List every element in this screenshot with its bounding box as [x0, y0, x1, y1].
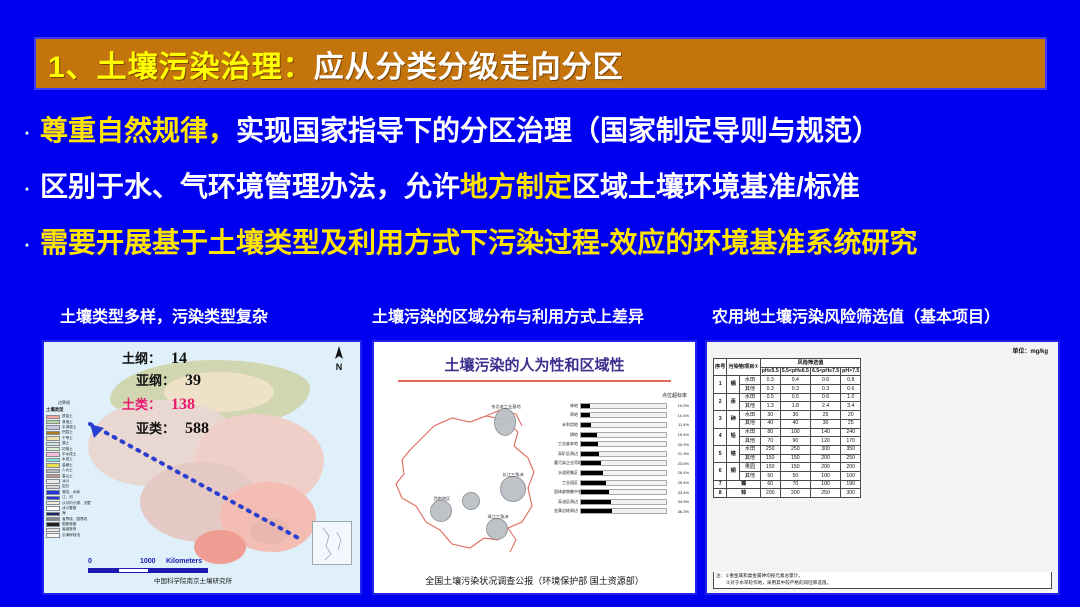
legend-swatch: [46, 469, 60, 473]
legend-title: 土壤类型: [46, 407, 106, 413]
legend-swatch: [46, 528, 60, 532]
table-notes: 注：①重金属和类金属砷均按元素总量计。 ②对于水旱轮作地，采用其中较严格的风险筛…: [713, 572, 1052, 589]
north-arrow-glyph: [334, 346, 344, 360]
legend-label: 沿海岸线浅: [62, 533, 80, 538]
th-group: 风险筛选值: [760, 359, 861, 368]
table-head: 序号 污染物项目① 风险筛选值 pH≤5.5 5.5<pH≤6.5 6.5<pH…: [714, 359, 861, 376]
bar-row: 林地10.0%: [554, 401, 689, 411]
table-row: 6铜果园150150200200: [714, 463, 861, 472]
cell-value-ph-1: 60: [760, 480, 780, 489]
bar-category-label: 未利用地: [554, 422, 580, 428]
th-ph-1: pH≤5.5: [760, 367, 780, 376]
cell-value-ph-3: 120: [810, 437, 840, 446]
bullet-item-3: · 需要开展基于土壤类型及利用方式下污染过程-效应的环境基准系统研究: [14, 215, 1074, 271]
table-row: 8锌200200250300: [714, 489, 861, 498]
cell-value-ph-1: 70: [760, 437, 780, 446]
cell-value-ph-4: 25: [841, 419, 861, 428]
bar-track: [580, 508, 667, 514]
bar-category-label: 固体废物集中处理处置场地: [554, 489, 580, 495]
legend-row-list: 铁铝土淋溶土半淋溶土钙层土干旱土漠土初育土半水成土水成土盐碱土人为土高山土冰川岩…: [46, 414, 106, 538]
cell-pollutant: 锌: [727, 489, 760, 498]
inset-islands: [313, 522, 351, 564]
cell-landuse: 其他: [740, 419, 761, 428]
map-inset-box: [312, 521, 352, 565]
scale-seg: [148, 569, 178, 572]
th-ph-3: 6.5<pH≤7.5: [810, 367, 840, 376]
bullet-marker-icon: ·: [14, 103, 40, 159]
bar-track: [580, 451, 667, 457]
th-pollutant: 污染物项目①: [727, 359, 760, 376]
bullet-item-2: · 区别于水、气环境管理办法，允许地方制定区域土壤环境基准/标准: [14, 159, 1074, 215]
cell-value-ph-3: 200: [810, 454, 840, 463]
cell-value-ph-1: 0.3: [760, 376, 780, 385]
scale-max: 1000: [140, 558, 156, 565]
bar-row: 固体废物集中处理处置场地33.4%: [554, 487, 689, 497]
cell-landuse: 水田: [740, 445, 761, 454]
table-row: 5铬水田250250300350: [714, 445, 861, 454]
bar-category-label: 草地: [554, 412, 580, 418]
cell-value-ph-2: 40: [780, 419, 810, 428]
bar-fill: [581, 461, 601, 465]
bullet-text-1: 尊重自然规律，实现国家指导下的分区治理（国家制定导则与规范）: [40, 103, 880, 159]
bar-value-label: 34.9%: [667, 499, 689, 504]
bar-track: [580, 480, 667, 486]
legend-swatch: [46, 415, 60, 419]
legend-subtitle: 边界线: [58, 400, 106, 406]
region-blob: [500, 476, 526, 502]
bar-track: [580, 460, 667, 466]
legend-row: 沿海岸线浅: [46, 533, 106, 538]
note-text-1: ①重金属和类金属砷均按元素总量计。: [725, 573, 803, 578]
legend-swatch: [46, 431, 60, 435]
bar-chart-header: 点位超标率: [554, 392, 689, 399]
cell-value-ph-3: 140: [810, 428, 840, 437]
bar-category-label: 采油区周边: [554, 499, 580, 505]
table-header-row-1: 序号 污染物项目① 风险筛选值: [714, 359, 861, 368]
soil-group-label: 土类：: [122, 397, 161, 412]
exceedance-bar-chart: 点位超标率 林地10.0%草地10.4%未利用地11.4%耕地19.4%工业废弃…: [554, 392, 689, 516]
cell-value-ph-1: 250: [760, 445, 780, 454]
cell-landuse: 其他: [740, 402, 761, 411]
cell-value-ph-3: 200: [810, 463, 840, 472]
th-ph-2: 5.5<pH≤6.5: [780, 367, 810, 376]
bar-fill: [581, 500, 611, 504]
slide-title-bar: 1、土壤污染治理：应从分类分级走向分区: [34, 37, 1047, 90]
bullet-1-seg-2: 实现国家指导下的分区治理（国家制定导则与规范）: [236, 115, 880, 146]
cell-pollutant: 铜: [727, 463, 740, 480]
bar-row: 采油区周边34.9%: [554, 497, 689, 507]
cell-landuse: 果园: [740, 463, 761, 472]
bar-value-label: 23.6%: [667, 461, 689, 466]
bar-track: [580, 441, 667, 447]
cell-value-ph-3: 250: [810, 489, 840, 498]
map-credit: 中国科学院南京土壤研究所: [154, 575, 232, 585]
legend-swatch: [46, 425, 60, 429]
region-blob: [486, 518, 508, 540]
cell-index: 5: [714, 445, 727, 462]
bar-fill: [581, 471, 603, 475]
cell-value-ph-3: 100: [810, 471, 840, 480]
cell-landuse: 其他: [740, 437, 761, 446]
table-row: 7镍6070100190: [714, 480, 861, 489]
cell-value-ph-1: 80: [760, 428, 780, 437]
cell-value-ph-1: 1.3: [760, 402, 780, 411]
region-blob-label: 长江三角洲: [490, 472, 536, 478]
bar-track: [580, 412, 667, 418]
risk-screening-table-panel: 单位：mg/kg 序号 污染物项目① 风险筛选值 pH≤5.5 5.5<pH≤6…: [705, 340, 1060, 595]
region-blob-label: 珠江三角洲: [476, 514, 520, 520]
legend-swatch: [46, 479, 60, 483]
bar-category-label: 工业废弃地: [554, 441, 580, 447]
bar-value-label: 10.0%: [667, 403, 689, 408]
cell-value-ph-4: 3.4: [841, 402, 861, 411]
bar-value-label: 33.4%: [667, 490, 689, 495]
bar-value-label: 20.3%: [667, 442, 689, 447]
cell-value-ph-4: 0.6: [841, 385, 861, 394]
cell-landuse: 水田: [740, 428, 761, 437]
cell-landuse: 水田: [740, 411, 761, 420]
cell-value-ph-2: 0.3: [780, 385, 810, 394]
panel-caption-risk-screening: 农用地土壤污染风险筛选值（基本项目）: [712, 303, 1000, 327]
soil-order-row: 土纲：14: [122, 348, 187, 368]
bar-row: 工业园区29.4%: [554, 478, 689, 488]
cell-value-ph-4: 0.8: [841, 376, 861, 385]
bullet-text-2: 区别于水、气环境管理办法，允许地方制定区域土壤环境基准/标准: [40, 159, 860, 215]
legend-swatch: [46, 506, 60, 510]
landmass-shape: [250, 518, 290, 544]
bar-row: 采矿区周边21.3%: [554, 449, 689, 459]
cell-index: 7: [714, 480, 727, 489]
cell-value-ph-2: 150: [780, 463, 810, 472]
panel-caption-regional-distribution: 土壤污染的区域分布与利用方式上差异: [372, 303, 644, 327]
region-panel-caption: 全国土壤污染状况调查公报（环境保护部 国土资源部）: [388, 575, 681, 587]
cell-value-ph-2: 100: [780, 428, 810, 437]
bullet-marker-icon: ·: [14, 159, 40, 215]
bar-track: [580, 499, 667, 505]
table-row: 1镉水田0.30.40.60.8: [714, 376, 861, 385]
cell-index: 3: [714, 411, 727, 428]
scale-unit: Kilometers: [166, 558, 202, 565]
legend-swatch: [46, 496, 60, 500]
bullet-marker-icon: ·: [14, 215, 40, 271]
cell-index: 8: [714, 489, 727, 498]
bar-category-label: 采矿区周边: [554, 451, 580, 457]
table-unit-note: 单位：mg/kg: [1012, 346, 1048, 355]
bar-category-label: 林地: [554, 403, 580, 409]
bar-row: 草地10.4%: [554, 411, 689, 421]
cell-value-ph-3: 0.6: [810, 376, 840, 385]
bullet-2-seg-1: 区别于水、气环境管理办法，允许: [40, 171, 460, 202]
cell-pollutant: 铬: [727, 445, 740, 462]
region-panel-title: 土壤污染的人为性和区域性: [374, 354, 695, 375]
region-blob: [494, 408, 516, 436]
china-outline-map: 东北老工业基地 长江三角洲 珠江三角洲 西南地区: [382, 388, 557, 568]
bar-row: 工业废弃地20.3%: [554, 439, 689, 449]
legend-swatch: [46, 463, 60, 467]
soil-subgroup-value: 588: [175, 420, 209, 437]
cell-value-ph-4: 100: [841, 471, 861, 480]
cell-value-ph-3: 25: [810, 411, 840, 420]
cell-value-ph-1: 30: [760, 411, 780, 420]
legend-swatch: [46, 517, 60, 521]
bar-row-list: 林地10.0%草地10.4%未利用地11.4%耕地19.4%工业废弃地20.3%…: [554, 401, 689, 516]
bar-fill: [581, 452, 599, 456]
bar-category-label: 工业园区: [554, 480, 580, 486]
cell-pollutant: 镉: [727, 376, 740, 393]
legend-swatch: [46, 522, 60, 526]
cell-value-ph-2: 200: [780, 489, 810, 498]
cell-value-ph-2: 50: [780, 471, 810, 480]
cell-value-ph-4: 350: [841, 445, 861, 454]
bar-row: 重污染企业用地23.6%: [554, 459, 689, 469]
bar-fill: [581, 490, 609, 494]
soil-suborder-row: 亚纲：39: [136, 370, 201, 390]
bar-track: [580, 403, 667, 409]
risk-screening-table: 序号 污染物项目① 风险筛选值 pH≤5.5 5.5<pH≤6.5 6.5<pH…: [713, 358, 861, 498]
cell-value-ph-1: 150: [760, 454, 780, 463]
cell-value-ph-1: 50: [760, 471, 780, 480]
cell-value-ph-2: 30: [780, 411, 810, 420]
scale-seg: [178, 569, 208, 572]
bar-row: 未利用地11.4%: [554, 420, 689, 430]
slide-title: 1、土壤污染治理：应从分类分级走向分区: [36, 42, 624, 86]
cell-value-ph-4: 240: [841, 428, 861, 437]
bullet-3-seg-1: 需要开展基于土壤类型及利用方式下污染过程-效应的环境基准系统研究: [40, 227, 917, 258]
cell-value-ph-2: 150: [780, 454, 810, 463]
legend-swatch: [46, 447, 60, 451]
bar-value-label: 10.4%: [667, 413, 689, 418]
cell-value-ph-3: 0.3: [810, 385, 840, 394]
soil-type-map-panel: 土纲：14 亚纲：39 土类：138 亚类：588 边界线 土壤类型 铁铝土淋溶…: [42, 340, 362, 595]
bar-category-label: 水道密集区: [554, 470, 580, 476]
panel-caption-soil-types: 土壤类型多样，污染类型复杂: [60, 303, 268, 327]
cell-value-ph-4: 300: [841, 489, 861, 498]
title-divider: [398, 380, 671, 382]
scale-numbers: 0 1000 Kilometers: [88, 558, 208, 568]
cell-value-ph-4: 200: [841, 463, 861, 472]
cell-value-ph-2: 250: [780, 445, 810, 454]
soil-suborder-label: 亚纲：: [136, 373, 175, 388]
bar-value-label: 29.4%: [667, 480, 689, 485]
bar-fill: [581, 509, 612, 513]
bar-category-label: 耕地: [554, 432, 580, 438]
legend-swatch: [46, 436, 60, 440]
cell-landuse: 水田: [740, 376, 761, 385]
table-row: 4铅水田80100140240: [714, 428, 861, 437]
table-note-2: ②对于水旱轮作地，采用其中较严格的风险筛选值。: [716, 580, 1049, 587]
bar-row: 金属冶炼周边36.3%: [554, 507, 689, 517]
soil-order-value: 14: [161, 350, 187, 367]
soil-group-row: 土类：138: [122, 394, 195, 414]
cell-index: 6: [714, 463, 727, 480]
legend-swatch: [46, 420, 60, 424]
cell-pollutant: 铅: [727, 428, 740, 445]
bar-value-label: 26.4%: [667, 470, 689, 475]
cell-landuse: 其他: [740, 471, 761, 480]
slide-title-rest: 应从分类分级走向分区: [314, 51, 624, 84]
bullet-2-seg-3: 区域土壤环境基准/标准: [572, 171, 860, 202]
cell-value-ph-1: 150: [760, 463, 780, 472]
bullet-text-3: 需要开展基于土壤类型及利用方式下污染过程-效应的环境基准系统研究: [40, 215, 917, 271]
bar-track: [580, 489, 667, 495]
legend-swatch: [46, 485, 60, 489]
cell-value-ph-3: 30: [810, 419, 840, 428]
region-blob-label: 西南地区: [420, 496, 464, 502]
region-blob: [430, 500, 452, 522]
table-body: 1镉水田0.30.40.60.8其他0.30.30.30.62汞水田0.50.5…: [714, 376, 861, 498]
legend-swatch: [46, 533, 60, 537]
legend-swatch: [46, 490, 60, 494]
bullet-list: · 尊重自然规律，实现国家指导下的分区治理（国家制定导则与规范） · 区别于水、…: [14, 103, 1074, 271]
table-row: 2汞水田0.50.50.61.0: [714, 393, 861, 402]
soil-subgroup-row: 亚类：588: [136, 418, 209, 438]
cell-landuse: 其他: [740, 385, 761, 394]
cell-value-ph-2: 0.4: [780, 376, 810, 385]
legend-swatch: [46, 442, 60, 446]
north-label: N: [334, 362, 344, 372]
soil-order-label: 土纲：: [122, 351, 161, 366]
cell-index: 1: [714, 376, 727, 393]
cell-value-ph-2: 0.5: [780, 393, 810, 402]
cell-landuse: 其他: [740, 454, 761, 463]
cell-value-ph-1: 40: [760, 419, 780, 428]
table-row: 3砷水田30302520: [714, 411, 861, 420]
cell-value-ph-1: 0.5: [760, 393, 780, 402]
cell-value-ph-4: 190: [841, 480, 861, 489]
cell-value-ph-3: 2.4: [810, 402, 840, 411]
cell-value-ph-2: 1.8: [780, 402, 810, 411]
bar-row: 水道密集区26.4%: [554, 468, 689, 478]
scale-bar-graphic: [88, 568, 208, 573]
slide-title-number: 1、土壤污染治理：: [48, 51, 314, 84]
notes-label: 注：: [716, 573, 725, 578]
china-outline-svg: [382, 388, 557, 568]
cell-pollutant: 镍: [727, 480, 760, 489]
bar-fill: [581, 413, 590, 417]
cell-landuse: 水田: [740, 393, 761, 402]
cell-value-ph-4: 20: [841, 411, 861, 420]
legend-swatch: [46, 452, 60, 456]
map-legend: 边界线 土壤类型 铁铝土淋溶土半淋溶土钙层土干旱土漠土初育土半水成土水成土盐碱土…: [46, 400, 106, 538]
bullet-2-seg-2: 地方制定: [460, 171, 572, 202]
bar-value-label: 36.3%: [667, 509, 689, 514]
bar-track: [580, 432, 667, 438]
bar-row: 耕地19.4%: [554, 430, 689, 440]
cell-value-ph-4: 1.0: [841, 393, 861, 402]
bullet-1-seg-1: 尊重自然规律，: [40, 115, 236, 146]
cell-value-ph-2: 70: [780, 480, 810, 489]
cell-pollutant: 砷: [727, 411, 740, 428]
bar-fill: [581, 423, 591, 427]
th-index: 序号: [714, 359, 727, 376]
cell-index: 4: [714, 428, 727, 445]
cell-value-ph-3: 300: [810, 445, 840, 454]
cell-value-ph-4: 170: [841, 437, 861, 446]
cell-value-ph-2: 90: [780, 437, 810, 446]
soil-suborder-value: 39: [175, 372, 201, 389]
legend-swatch: [46, 501, 60, 505]
bar-fill: [581, 481, 606, 485]
map-scale-bar: 0 1000 Kilometers: [88, 558, 208, 573]
bar-category-label: 重污染企业用地: [554, 460, 580, 466]
bar-fill: [581, 442, 598, 446]
scale-seg: [89, 569, 119, 572]
region-blob: [462, 492, 480, 510]
scale-zero: 0: [88, 558, 92, 565]
soil-group-value: 138: [161, 396, 195, 413]
bar-fill: [581, 433, 597, 437]
cell-value-ph-3: 100: [810, 480, 840, 489]
bar-value-label: 21.3%: [667, 451, 689, 456]
bar-value-label: 19.4%: [667, 432, 689, 437]
region-blob-label: 东北老工业基地: [476, 404, 536, 410]
cell-value-ph-4: 250: [841, 454, 861, 463]
bar-category-label: 金属冶炼周边: [554, 508, 580, 514]
bar-track: [580, 422, 667, 428]
cell-value-ph-1: 0.3: [760, 385, 780, 394]
bar-fill: [581, 404, 590, 408]
north-arrow-icon: N: [334, 346, 344, 372]
bullet-item-1: · 尊重自然规律，实现国家指导下的分区治理（国家制定导则与规范）: [14, 103, 1074, 159]
th-ph-4: pH>7.5: [841, 367, 861, 376]
legend-swatch: [46, 474, 60, 478]
bar-track: [580, 470, 667, 476]
regional-distribution-panel: 土壤污染的人为性和区域性 东北老工业基地 长江三角洲 珠江三角洲 西南地区 点位…: [372, 340, 697, 595]
cell-index: 2: [714, 393, 727, 410]
cell-pollutant: 汞: [727, 393, 740, 410]
legend-swatch: [46, 458, 60, 462]
scale-seg: [119, 569, 149, 572]
cell-value-ph-1: 200: [760, 489, 780, 498]
soil-subgroup-label: 亚类：: [136, 421, 175, 436]
bar-value-label: 11.4%: [667, 422, 689, 427]
legend-swatch: [46, 512, 60, 516]
cell-value-ph-3: 0.6: [810, 393, 840, 402]
